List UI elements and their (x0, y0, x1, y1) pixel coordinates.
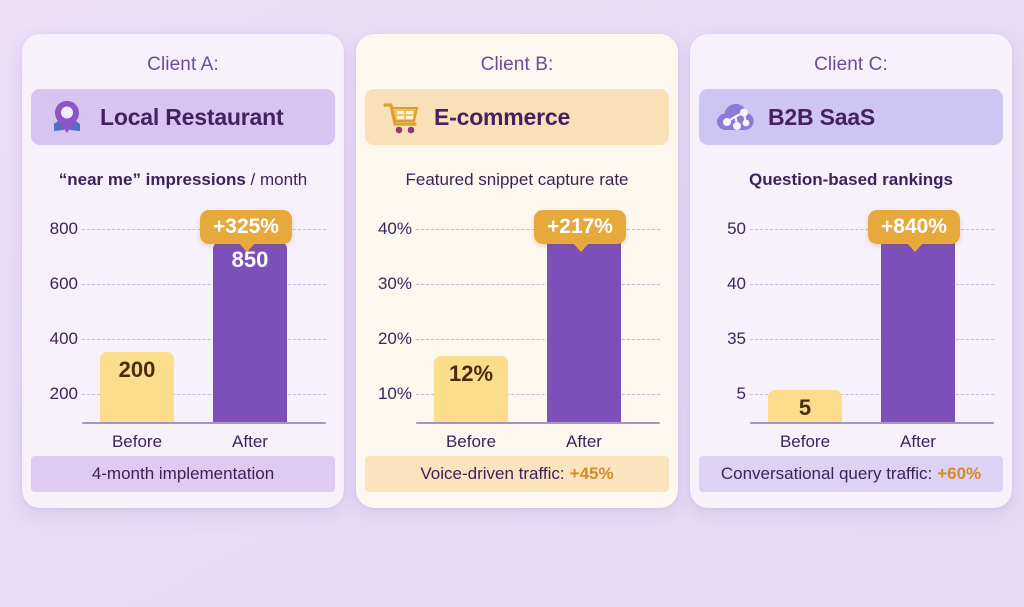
x-axis-line (750, 422, 994, 424)
card-footer-a: 4-month implementation (31, 456, 335, 492)
card-metric-c: Question-based rankings (690, 145, 1012, 190)
bar-value-after: 850 (232, 249, 269, 422)
footer-highlight-b: +45% (570, 464, 614, 484)
card-metric-b: Featured snippet capture rate (356, 145, 678, 190)
y-axis-tick: 600 (36, 274, 78, 294)
cloud-network-icon (715, 98, 755, 136)
y-axis-tick: 30% (370, 274, 412, 294)
comparison-card-board: Client A: Local Restaurant “near me” imp… (0, 0, 1024, 607)
footer-highlight-c: +60% (937, 464, 981, 484)
card-title-c: B2B SaaS (768, 104, 875, 131)
x-label-after: After (547, 432, 621, 452)
footer-text-b: Voice-driven traffic: (420, 464, 564, 484)
bar-chart-c: 50 40 35 5 5 47 +840% Before After (704, 204, 998, 456)
card-header-a: Local Restaurant (31, 89, 335, 145)
gridline (416, 339, 660, 340)
location-pin-icon (47, 98, 87, 136)
card-footer-b: Voice-driven traffic: +45% (365, 456, 669, 492)
bar-chart-a: 800 600 400 200 200 850 +325% Before Aft… (36, 204, 330, 456)
change-badge-b: +217% (534, 210, 626, 244)
card-header-b: E-commerce (365, 89, 669, 145)
bar-before[interactable]: 5 (768, 390, 842, 422)
x-label-after: After (213, 432, 287, 452)
x-label-before: Before (100, 432, 174, 452)
card-metric-a: “near me” impressions / month (22, 145, 344, 190)
bar-before[interactable]: 200 (100, 352, 174, 422)
gridline (750, 284, 994, 285)
client-card-c[interactable]: Client C: B2B SaaS Question-based rankin… (690, 34, 1012, 508)
card-title-b: E-commerce (434, 104, 570, 131)
bar-value-before: 200 (119, 359, 156, 422)
bar-before[interactable]: 12% (434, 356, 508, 422)
y-axis-tick: 400 (36, 329, 78, 349)
client-label-a: Client A: (22, 34, 344, 89)
x-label-after: After (881, 432, 955, 452)
y-axis-tick: 10% (370, 384, 412, 404)
bar-after[interactable]: 850 (213, 242, 287, 422)
card-header-c: B2B SaaS (699, 89, 1003, 145)
metric-lead-b: Featured snippet capture rate (405, 170, 628, 189)
x-label-before: Before (434, 432, 508, 452)
client-card-a[interactable]: Client A: Local Restaurant “near me” imp… (22, 34, 344, 508)
y-axis-tick: 40% (370, 219, 412, 239)
x-axis-line (416, 422, 660, 424)
change-badge-c: +840% (868, 210, 960, 244)
y-axis-tick: 200 (36, 384, 78, 404)
change-badge-a: +325% (200, 210, 292, 244)
shopping-cart-icon (381, 98, 421, 136)
bar-value-before: 5 (799, 397, 811, 422)
bar-chart-b: 40% 30% 20% 10% 12% 38% +217% Before Aft… (370, 204, 664, 456)
gridline (750, 339, 994, 340)
x-axis-line (82, 422, 326, 424)
metric-lead-a: “near me” impressions (59, 170, 246, 189)
card-title-a: Local Restaurant (100, 104, 283, 131)
y-axis-tick: 40 (704, 274, 746, 294)
metric-tail-a: / month (246, 170, 307, 189)
y-axis-tick: 800 (36, 219, 78, 239)
client-label-b: Client B: (356, 34, 678, 89)
card-footer-c: Conversational query traffic: +60% (699, 456, 1003, 492)
y-axis-tick: 20% (370, 329, 412, 349)
metric-lead-c: Question-based rankings (749, 170, 953, 189)
gridline (416, 284, 660, 285)
gridline (82, 339, 326, 340)
y-axis-tick: 50 (704, 219, 746, 239)
client-label-c: Client C: (690, 34, 1012, 89)
footer-text-a: 4-month implementation (92, 464, 274, 484)
x-label-before: Before (768, 432, 842, 452)
bar-value-before: 12% (449, 363, 493, 422)
gridline (82, 284, 326, 285)
y-axis-tick: 5 (704, 384, 746, 404)
client-card-b[interactable]: Client B: E-commerce Featured snippet ca… (356, 34, 678, 508)
footer-text-c: Conversational query traffic: (721, 464, 932, 484)
y-axis-tick: 35 (704, 329, 746, 349)
